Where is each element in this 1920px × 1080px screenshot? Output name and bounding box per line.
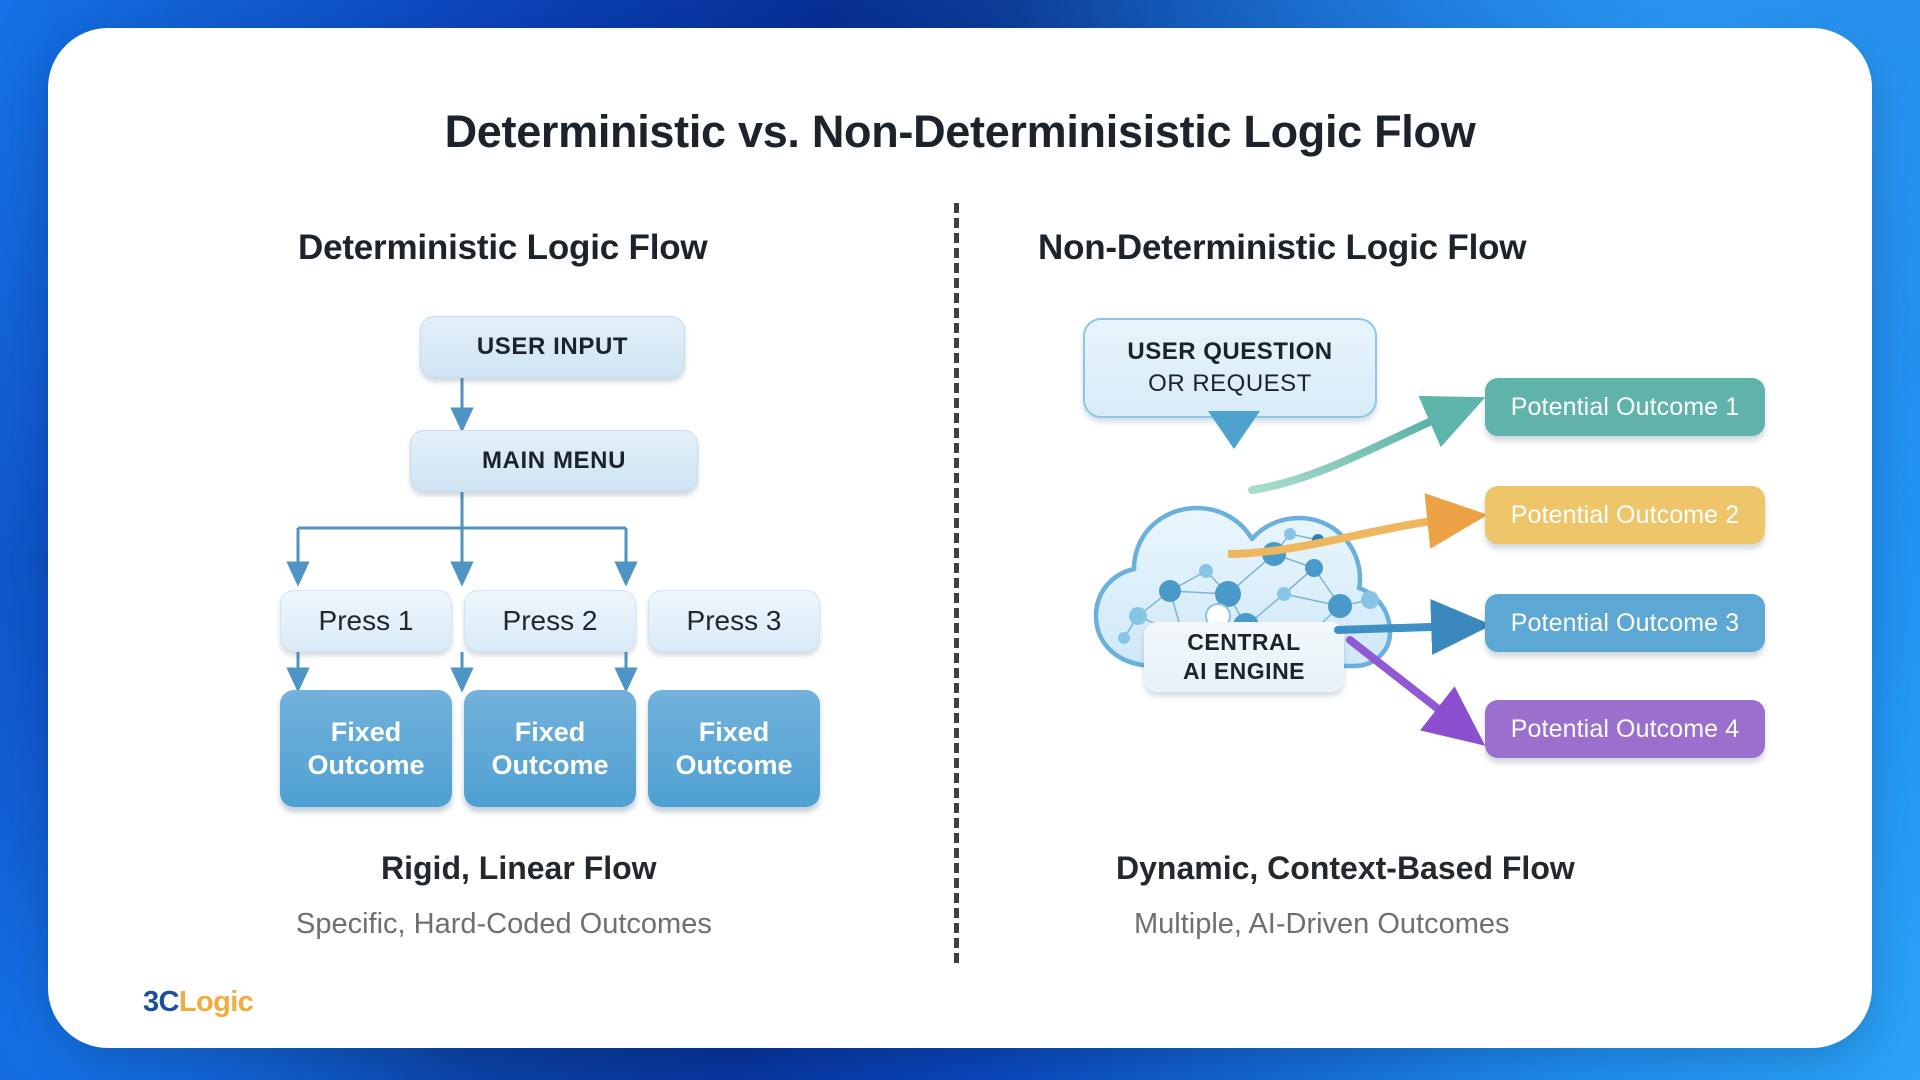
fixed-outcome-line2: Outcome <box>491 749 608 782</box>
node-fixed-outcome-1[interactable]: Fixed Outcome <box>280 690 452 807</box>
node-press-3[interactable]: Press 3 <box>648 590 820 652</box>
node-potential-outcome-2[interactable]: Potential Outcome 2 <box>1485 486 1765 544</box>
node-potential-outcome-3[interactable]: Potential Outcome 3 <box>1485 594 1765 652</box>
arrow-outcome-4 <box>1350 640 1460 726</box>
column-divider <box>954 203 959 963</box>
fixed-outcome-line1: Fixed <box>675 716 792 749</box>
arrow-outcome-2 <box>1228 518 1456 554</box>
arrow-outcome-3 <box>1338 626 1460 630</box>
fixed-outcome-line2: Outcome <box>307 749 424 782</box>
node-press-1[interactable]: Press 1 <box>280 590 452 652</box>
node-main-menu[interactable]: MAIN MENU <box>410 430 698 492</box>
deterministic-caption: Rigid, Linear Flow <box>381 850 657 887</box>
deterministic-heading: Deterministic Logic Flow <box>298 228 707 268</box>
fixed-outcome-line1: Fixed <box>491 716 608 749</box>
node-potential-outcome-1[interactable]: Potential Outcome 1 <box>1485 378 1765 436</box>
content-card: Deterministic vs. Non-Determinisistic Lo… <box>48 28 1872 1048</box>
deterministic-subcaption: Specific, Hard-Coded Outcomes <box>296 908 712 941</box>
arrow-outcome-1 <box>1252 410 1456 490</box>
fixed-outcome-line1: Fixed <box>307 716 424 749</box>
node-potential-outcome-4[interactable]: Potential Outcome 4 <box>1485 700 1765 758</box>
fixed-outcome-line2: Outcome <box>675 749 792 782</box>
brand-logo-3c: 3C <box>143 986 179 1018</box>
brand-logo-text: Logic <box>179 986 253 1018</box>
node-user-input[interactable]: USER INPUT <box>420 316 685 378</box>
non-deterministic-subcaption: Multiple, AI-Driven Outcomes <box>1134 908 1510 941</box>
brand-logo: 3CLogic <box>143 986 253 1019</box>
deterministic-connectors <box>228 308 928 1008</box>
node-fixed-outcome-3[interactable]: Fixed Outcome <box>648 690 820 807</box>
non-deterministic-heading: Non-Deterministic Logic Flow <box>1038 228 1526 268</box>
page-title: Deterministic vs. Non-Determinisistic Lo… <box>48 106 1872 158</box>
node-fixed-outcome-2[interactable]: Fixed Outcome <box>464 690 636 807</box>
non-deterministic-caption: Dynamic, Context-Based Flow <box>1116 850 1575 887</box>
node-press-2[interactable]: Press 2 <box>464 590 636 652</box>
